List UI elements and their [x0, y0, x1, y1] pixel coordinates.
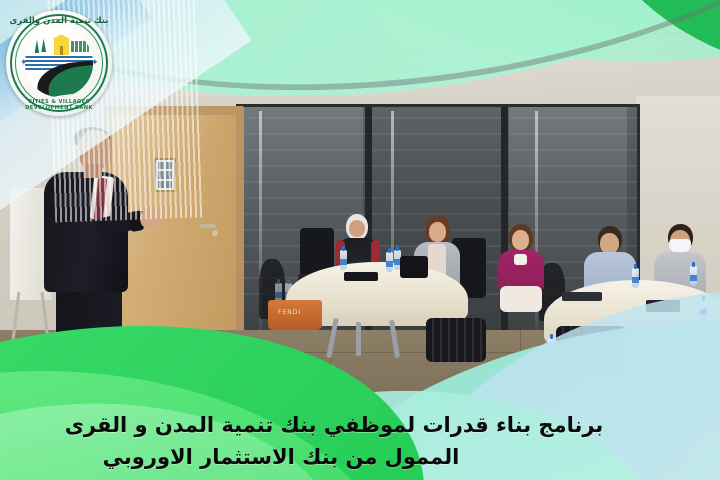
water-bottle: [386, 252, 393, 272]
water-bottle: [690, 266, 697, 286]
chair: [556, 326, 626, 374]
notepad: [562, 292, 602, 301]
water-bottle: [548, 338, 555, 358]
logo-english-text: CITIES & VILLAGES DEVELOPMENT BANK: [6, 99, 112, 111]
logo-arabic-text: بنك تنمية المدن والقرى: [6, 16, 112, 26]
caption-line-2: الممول من بنك الاستثمار الاوروبي: [12, 442, 708, 474]
remote-device: [646, 300, 680, 312]
door-handle-icon: [200, 224, 216, 228]
wall-icon: [71, 41, 89, 52]
door-window: [154, 158, 176, 192]
handbag: [400, 256, 428, 278]
chair: [426, 318, 486, 362]
presenter-standing: [36, 130, 154, 352]
star-icon: ✦: [20, 60, 27, 67]
notepad: [344, 272, 378, 281]
logo-emblem: [25, 29, 93, 97]
star-icon: ✦: [91, 60, 98, 67]
water-bottle: [340, 250, 347, 270]
attendee-woman-magenta-top: [498, 226, 544, 314]
face-mask-icon: [669, 239, 691, 253]
bag-label: FENDI: [278, 309, 301, 316]
orange-bag: FENDI: [268, 300, 322, 330]
bank-logo[interactable]: ✦ ✦ بنك تنمية المدن والقرى CITIES & VILL…: [6, 10, 112, 116]
water-bottle: [700, 300, 707, 320]
water-bottle: [632, 268, 639, 288]
caption-block: برنامج بناء قدرات لموظفي بنك تنمية المدن…: [0, 410, 720, 474]
banner-root: FENDI: [0, 0, 720, 480]
caption-line-1: برنامج بناء قدرات لموظفي بنك تنمية المدن…: [12, 410, 708, 442]
house-icon: [54, 39, 69, 55]
